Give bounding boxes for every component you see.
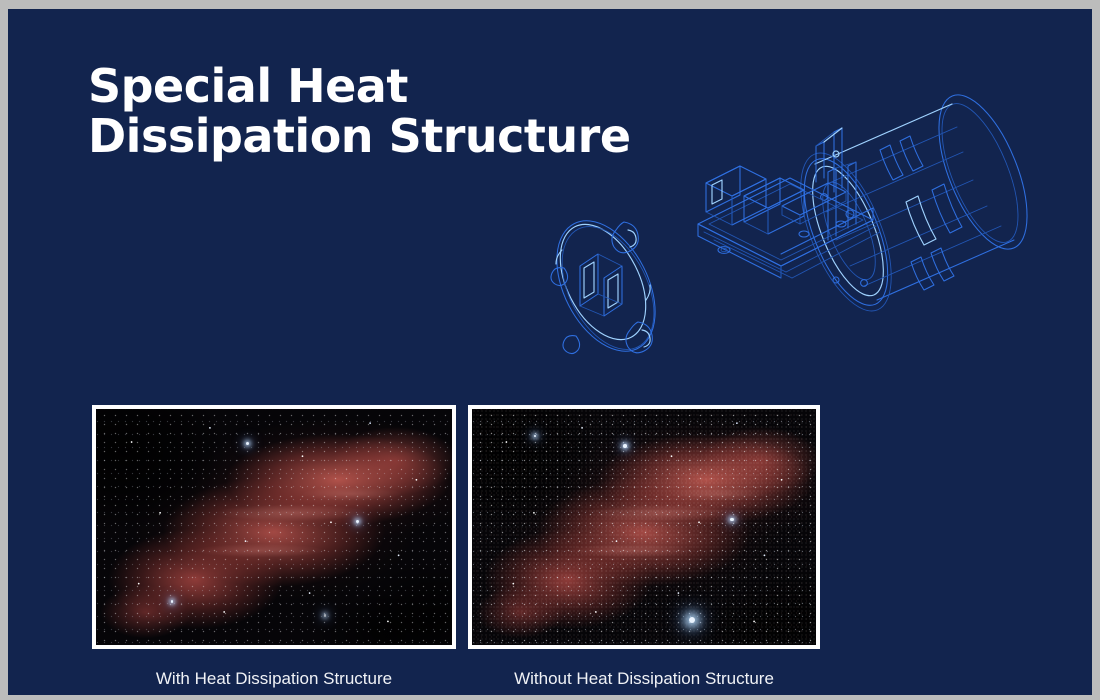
bright-star [730, 518, 734, 522]
exploded-assembly-diagram [528, 54, 1088, 384]
caption-with-structure: With Heat Dissipation Structure [92, 669, 456, 689]
bright-star [246, 442, 249, 445]
nebula-photo-low-noise [96, 409, 452, 645]
caption-without-structure: Without Heat Dissipation Structure [468, 669, 820, 689]
slide-root: Special Heat Dissipation Structure [0, 0, 1100, 700]
bright-star [171, 600, 174, 603]
thermal-noise-overlay [472, 409, 816, 645]
back-cover-plate-part [537, 205, 675, 368]
nebula-photo-high-noise [472, 409, 816, 645]
electronics-tray-part [698, 128, 880, 278]
photo-frame-with-structure [92, 405, 456, 649]
bright-star [623, 444, 627, 448]
star-field-faint [96, 409, 452, 645]
content-panel: Special Heat Dissipation Structure [8, 9, 1092, 695]
bright-star [689, 617, 695, 623]
photo-frame-without-structure [468, 405, 820, 649]
housing-barrel-part [782, 83, 1045, 323]
